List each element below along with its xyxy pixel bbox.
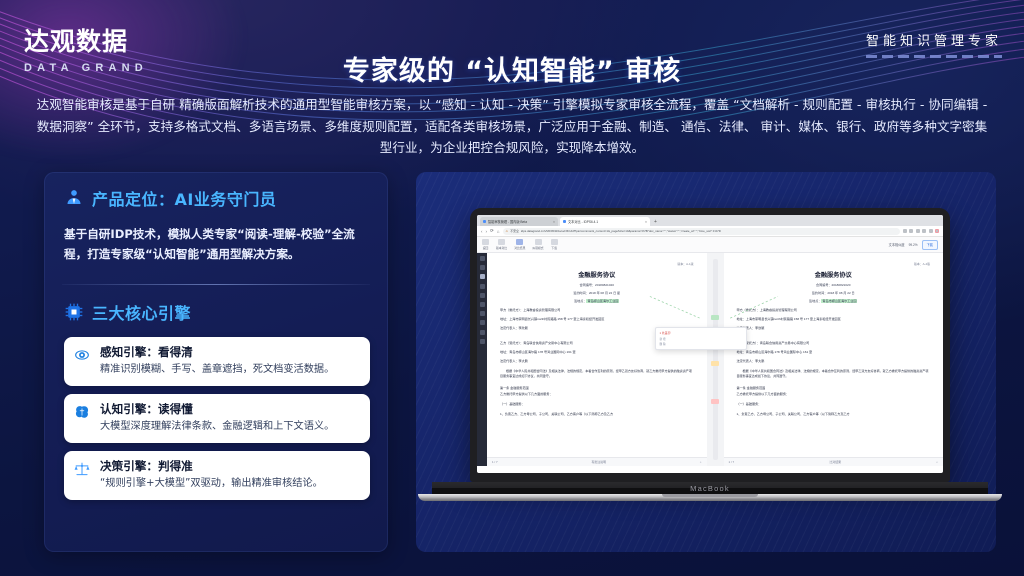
field-value: 青岛市崂山区海尔工业园 bbox=[821, 299, 857, 303]
similarity-value: 99.2% bbox=[909, 243, 918, 247]
laptop-mockup: 智能审核管理 - 国内版 Beta × 文本对比 - IDPS6.4.1 × +… bbox=[470, 208, 950, 501]
chart-icon[interactable] bbox=[480, 320, 485, 325]
field-label: 签约时间： bbox=[573, 291, 588, 295]
engine-card-decision[interactable]: 决策引擎：判得准 “规则引擎+大模型”双驱动，输出精准审核结论。 bbox=[64, 451, 370, 500]
doc-icon[interactable] bbox=[480, 302, 485, 307]
document-clause-sub: 乙方委托甲方提供以下几方面的服务： bbox=[737, 392, 931, 397]
toolbar-icon bbox=[551, 239, 558, 245]
app-sidebar bbox=[477, 253, 487, 466]
page-title: 专家级的 “认知智能” 审核 bbox=[0, 49, 1024, 88]
engine-card-desc: 精准识别模糊、手写、盖章遮挡，死文档变活数据。 bbox=[100, 362, 360, 377]
chip-icon bbox=[64, 302, 84, 322]
document-party-line: 地址：上海市崇明县长兴镇north村民路路 158 号 177 室上海泰和经开发… bbox=[500, 317, 694, 322]
brain-icon bbox=[74, 404, 92, 425]
app-body: 版本：A-1版 金融服务协议 合同编号：20180821020 签约时间：201… bbox=[477, 253, 943, 466]
document-party-line: 地址：青岛市崂山区海尔路 178 号鸿业国际中心 161 室 bbox=[737, 350, 931, 355]
left-info-panel: 产品定位：AI业务守门员 基于自研IDP技术，模拟人类专家“阅读-理解-校验”全… bbox=[44, 172, 388, 552]
field-value: 青岛崂山区海尔工业园 bbox=[586, 299, 619, 303]
url-text: idps.datagrand.cn/v5/0/f/0/#/docu/c/6/1/… bbox=[521, 229, 721, 233]
doc-icon[interactable] bbox=[480, 284, 485, 289]
engine-card-desc: “规则引擎+大模型”双驱动，输出精准审核结论。 bbox=[100, 476, 360, 491]
document-field-highlighted: 签地点：青岛市崂山区海尔工业园 bbox=[737, 298, 931, 303]
field-value: 2018 年 08 月 22 日 bbox=[827, 291, 854, 295]
toolbar-icon bbox=[482, 239, 489, 245]
field-value: 20180821020 bbox=[595, 283, 614, 287]
field-label: 签地点： bbox=[809, 299, 821, 303]
document-footer-left: 1 / 7 有批注说明 ⌕ bbox=[487, 457, 707, 466]
document-field: 签约时间：2018 年 08 月 22 日 星 bbox=[500, 290, 694, 295]
grid-icon[interactable] bbox=[480, 339, 485, 344]
document-field-highlighted: 签地点：青岛崂山区海尔工业园 bbox=[500, 298, 694, 303]
url-input[interactable]: ⚠ 不安全 idps.datagrand.cn/v5/0/f/0/#/docu/… bbox=[503, 228, 900, 235]
eye-icon bbox=[74, 347, 92, 368]
document-paragraph: 根据《中华人民共和国合同法》及相关法律、法规的规定，本着合作互利的原则，经甲乙双… bbox=[737, 369, 931, 379]
browser-tab-label: 智能审核管理 - 国内版 Beta bbox=[488, 219, 527, 224]
laptop-brand-label: MacBook bbox=[690, 484, 730, 493]
product-positioning-block: 产品定位：AI业务守门员 基于自研IDP技术，模拟人类专家“阅读-理解-校验”全… bbox=[64, 186, 370, 265]
document-clause-title: 第一条 金融服务范围 bbox=[737, 386, 931, 391]
toolbar-icon bbox=[516, 239, 523, 245]
engine-card-title: 认知引擎：读得懂 bbox=[100, 402, 360, 418]
engine-card-cognition[interactable]: 认知引擎：读得懂 大模型深度理解法律条款、金融逻辑和上下文语义。 bbox=[64, 394, 370, 443]
document-clause-sub: 乙方委托甲方提供以下几方面的服务： bbox=[500, 392, 694, 397]
laptop-base: MacBook bbox=[432, 482, 988, 494]
engine-card-perception[interactable]: 感知引擎：看得清 精准识别模糊、手写、盖章遮挡，死文档变活数据。 bbox=[64, 337, 370, 386]
engine-card-title: 决策引擎：判得准 bbox=[100, 459, 360, 475]
field-label: 合同编号： bbox=[580, 283, 595, 287]
field-label: 签地点： bbox=[574, 299, 586, 303]
diff-marker-added[interactable] bbox=[711, 315, 719, 320]
footer-center-label: 比对结果 bbox=[829, 460, 841, 464]
document-party-line: 地址：青岛市崂山区海尔路 178 号鸿业国际中心 161 室 bbox=[500, 350, 694, 355]
document-title: 金融服务协议 bbox=[737, 270, 931, 279]
field-label: 合同编号： bbox=[816, 283, 831, 287]
diff-scroll-bar[interactable]: 1 处差异 新 增 删 除 bbox=[707, 253, 724, 466]
laptop-deck bbox=[418, 494, 1002, 501]
document-field: 合同编号：20180821020 bbox=[500, 282, 694, 287]
footer-center-label: 有批注说明 bbox=[592, 460, 606, 464]
download-button[interactable]: 下载 bbox=[922, 240, 938, 250]
field-value: 2018 年 08 月 22 日 星 bbox=[589, 291, 620, 295]
engine-card-text: 认知引擎：读得懂 大模型深度理解法律条款、金融逻辑和上下文语义。 bbox=[100, 402, 360, 434]
doc-icon[interactable] bbox=[480, 256, 485, 261]
page-description: 达观智能审核是基于自研 精确版面解析技术的通用型智能审核方案，以 “感知 - 认… bbox=[34, 94, 990, 159]
back-icon[interactable]: ‹ bbox=[481, 229, 483, 234]
laptop-notch bbox=[662, 494, 758, 497]
field-label: 签约时间： bbox=[812, 291, 827, 295]
star-icon[interactable] bbox=[909, 229, 913, 233]
laptop-lid: 智能审核管理 - 国内版 Beta × 文本对比 - IDPS6.4.1 × +… bbox=[470, 208, 950, 482]
diff-marker-deleted[interactable] bbox=[711, 399, 719, 404]
diff-popup-line: 删 除 bbox=[660, 342, 742, 346]
new-tab-button[interactable]: + bbox=[654, 219, 657, 225]
document-clause-text: 1、负责乙方、乙方母公司、子公司、关联公司、乙方客户等（以下简称乙方及乙方 bbox=[500, 412, 694, 417]
product-positioning-body: 基于自研IDP技术，模拟人类专家“阅读-理解-校验”全流程，打造专家级“认知智能… bbox=[64, 224, 370, 265]
diff-popup-title: 1 处差异 bbox=[660, 331, 742, 335]
document-party-line: 乙方（受托方）：青岛联合信用资产交易中心有限公司 bbox=[737, 341, 931, 346]
puzzle-icon[interactable] bbox=[922, 229, 926, 233]
home-icon[interactable]: ⌂ bbox=[497, 229, 500, 234]
laptop-screen: 智能审核管理 - 国内版 Beta × 文本对比 - IDPS6.4.1 × +… bbox=[477, 215, 943, 473]
app-toolbar: 返回 版本对比 对比结果 纠错模式 下载 bbox=[477, 237, 943, 253]
core-engines-header: 三大核心引擎 bbox=[64, 300, 370, 324]
document-clause-title: 第一条 金融服务范围 bbox=[500, 386, 694, 391]
menu-icon[interactable] bbox=[929, 229, 933, 233]
page-indicator[interactable]: 1 / 7 bbox=[729, 460, 735, 464]
document-party-line: 甲方（委托方）：上海教睿投资管理有限公司 bbox=[737, 308, 931, 313]
diff-popup-card[interactable]: 1 处差异 新 增 删 除 bbox=[655, 327, 747, 350]
image-icon[interactable] bbox=[480, 293, 485, 298]
tab-favicon-icon bbox=[563, 220, 566, 223]
document-version-label: 版本：A-1版 bbox=[500, 262, 694, 266]
avatar[interactable] bbox=[935, 229, 939, 233]
tab-favicon-icon bbox=[483, 220, 486, 223]
share-icon[interactable] bbox=[903, 229, 907, 233]
engine-card-list: 感知引擎：看得清 精准识别模糊、手写、盖章遮挡，死文档变活数据。 认知引擎：读得… bbox=[64, 337, 370, 500]
engine-card-title: 感知引擎：看得清 bbox=[100, 345, 360, 361]
toolbar-button-back[interactable]: 返回 bbox=[482, 239, 489, 250]
toolbar-button-label: 对比结果 bbox=[514, 246, 525, 250]
product-positioning-title: 产品定位：AI业务守门员 bbox=[92, 186, 276, 210]
url-security-label: 不安全 bbox=[510, 229, 519, 233]
toolbar-button-label: 版本对比 bbox=[496, 246, 507, 250]
document-clause-item: （一）基础服务： bbox=[500, 402, 694, 407]
document-clause-text: 1、负责乙方、乙方母公司、子公司、关联公司、乙方客户等（以下简称乙方及乙方 bbox=[737, 412, 931, 417]
document-footer-right: 1 / 7 比对结果 ⌕ bbox=[724, 457, 944, 466]
browser-tab-2[interactable]: 文本对比 - IDPS6.4.1 × bbox=[560, 217, 650, 226]
toolbar-button-compare-result[interactable]: 对比结果 bbox=[514, 239, 525, 250]
scales-icon bbox=[74, 461, 92, 482]
document-party-line: 法定代表人：李大鹏 bbox=[737, 359, 931, 364]
browser-tab-label: 文本对比 - IDPS6.4.1 bbox=[568, 219, 598, 224]
engine-card-text: 决策引擎：判得准 “规则引擎+大模型”双驱动，输出精准审核结论。 bbox=[100, 459, 360, 491]
forward-icon[interactable]: › bbox=[486, 229, 488, 234]
warning-icon: ⚠ bbox=[506, 229, 509, 233]
product-positioning-header: 产品定位：AI业务守门员 bbox=[64, 186, 370, 210]
toolbar-button-label: 下载 bbox=[551, 246, 558, 250]
page-indicator[interactable]: 1 / 7 bbox=[492, 460, 498, 464]
close-icon[interactable]: × bbox=[553, 220, 555, 224]
toolbar-button-correction-mode[interactable]: 纠错模式 bbox=[532, 239, 543, 250]
document-field: 合同编号：20180821020 bbox=[737, 282, 931, 287]
toolbar-button-version-compare[interactable]: 版本对比 bbox=[496, 239, 507, 250]
similarity-label: 文本相似度 bbox=[889, 242, 905, 247]
document-field: 签约时间：2018 年 08 月 22 日 bbox=[737, 290, 931, 295]
panel-divider bbox=[62, 284, 370, 285]
reload-icon[interactable]: ⟳ bbox=[490, 228, 494, 234]
table-icon[interactable] bbox=[480, 311, 485, 316]
browser-toolbar-icons bbox=[903, 229, 940, 233]
core-engines-title: 三大核心引擎 bbox=[92, 300, 191, 324]
extension-icon[interactable] bbox=[916, 229, 920, 233]
diff-popup-line: 新 增 bbox=[660, 337, 742, 341]
toolbar-icon bbox=[535, 239, 542, 245]
document-title: 金融服务协议 bbox=[500, 270, 694, 279]
document-compare-area: 版本：A-1版 金融服务协议 合同编号：20180821020 签约时间：201… bbox=[487, 253, 943, 466]
diff-track bbox=[713, 259, 718, 460]
document-version-label: 版本：A-4版 bbox=[737, 262, 931, 266]
document-party-line: 法定代表人：李欣颖 bbox=[737, 326, 931, 331]
toolbar-button-label: 纠错模式 bbox=[532, 246, 543, 250]
toolbar-right-group: 文本相似度 99.2% 下载 bbox=[889, 240, 938, 250]
document-pane-left[interactable]: 版本：A-1版 金融服务协议 合同编号：20180821020 签约时间：201… bbox=[487, 253, 707, 466]
toolbar-button-download[interactable]: 下载 bbox=[551, 239, 558, 250]
document-party-line: 甲方（委托方）：上海教睿投资管理有限公司 bbox=[500, 308, 694, 313]
toolbar-icon bbox=[498, 239, 505, 245]
document-party-line: 地址：上海市崇明县长兴镇north村民路路 158 号 177 室上海泰和经开发… bbox=[737, 317, 931, 322]
tagline-text: 智能知识管理专家 bbox=[866, 30, 1002, 49]
engine-card-desc: 大模型深度理解法律条款、金融逻辑和上下文语义。 bbox=[100, 419, 360, 434]
person-icon bbox=[64, 188, 84, 208]
close-icon[interactable]: × bbox=[645, 220, 647, 224]
core-engines-block: 三大核心引擎 感知引擎：看得清 精准识别模糊、手写、盖章遮挡，死文档变活数据。 bbox=[64, 300, 370, 500]
document-paragraph: 根据《中华人民共和国合同法》及相关法律、法规的规定，本着合作互利的原则，经甲乙双… bbox=[500, 369, 694, 379]
search-icon[interactable]: ⌕ bbox=[700, 460, 702, 464]
engine-card-text: 感知引擎：看得清 精准识别模糊、手写、盖章遮挡，死文档变活数据。 bbox=[100, 345, 360, 377]
diff-marker-modified[interactable] bbox=[711, 361, 719, 366]
browser-tab-1[interactable]: 智能审核管理 - 国内版 Beta × bbox=[480, 217, 558, 226]
doc-filled-icon[interactable] bbox=[480, 274, 485, 279]
document-pane-right[interactable]: 版本：A-4版 金融服务协议 合同编号：20180821020 签约时间：201… bbox=[724, 253, 944, 466]
toolbar-button-label: 返回 bbox=[482, 246, 489, 250]
document-party-line: 法定代表人：李大鹏 bbox=[500, 359, 694, 364]
browser-address-bar: ‹ › ⟳ ⌂ ⚠ 不安全 idps.datagrand.cn/v5/0/f/0… bbox=[477, 226, 943, 237]
browser-tab-strip: 智能审核管理 - 国内版 Beta × 文本对比 - IDPS6.4.1 × + bbox=[477, 215, 943, 226]
document-clause-item: （一）基础服务： bbox=[737, 402, 931, 407]
field-value: 20180821020 bbox=[832, 283, 851, 287]
tag-icon[interactable] bbox=[480, 330, 485, 335]
search-icon[interactable]: ⌕ bbox=[936, 460, 938, 464]
doc-icon[interactable] bbox=[480, 265, 485, 270]
